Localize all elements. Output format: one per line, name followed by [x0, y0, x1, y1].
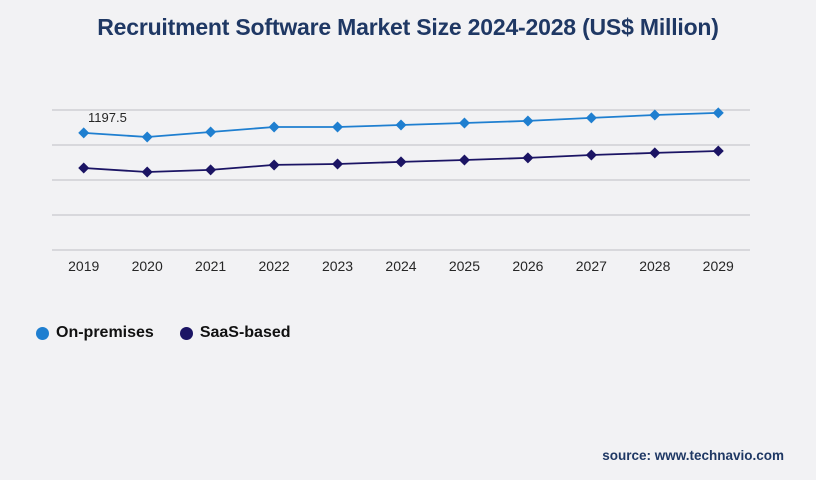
- legend-marker-icon: [36, 327, 49, 340]
- data-point-marker: [396, 156, 407, 167]
- x-tick-label: 2024: [369, 255, 432, 277]
- legend-item-label: On-premises: [56, 324, 154, 342]
- gridlines: [52, 110, 750, 250]
- data-point-marker: [459, 154, 470, 165]
- data-point-marker: [649, 147, 660, 158]
- data-point-marker: [713, 107, 724, 118]
- data-point-marker: [396, 119, 407, 130]
- data-point-marker: [522, 152, 533, 163]
- x-tick-label: 2023: [306, 255, 369, 277]
- line-chart-svg: [0, 0, 816, 480]
- data-point-marker: [459, 118, 470, 129]
- data-label-on-premises-2019: 1197.5: [88, 110, 127, 125]
- x-tick-label: 2025: [433, 255, 496, 277]
- data-point-marker: [269, 159, 280, 170]
- plot-area: 1197.5: [0, 0, 816, 480]
- data-point-marker: [713, 145, 724, 156]
- x-tick-label: 2021: [179, 255, 242, 277]
- data-point-marker: [205, 126, 216, 137]
- source-attribution: source: www.technavio.com: [602, 448, 784, 463]
- data-point-marker: [586, 149, 597, 160]
- x-axis: 2019 2020 2021 2022 2023 2024 2025 2026 …: [52, 255, 750, 277]
- x-tick-label: 2020: [115, 255, 178, 277]
- chart-page: Recruitment Software Market Size 2024-20…: [0, 0, 816, 480]
- x-tick-label: 2029: [687, 255, 750, 277]
- legend-item-saas-based[interactable]: SaaS-based: [180, 324, 291, 342]
- legend-item-label: SaaS-based: [200, 324, 291, 342]
- data-point-marker: [78, 162, 89, 173]
- series-markers: [78, 107, 724, 177]
- data-point-marker: [142, 131, 153, 142]
- x-tick-label: 2026: [496, 255, 559, 277]
- legend-marker-icon: [180, 327, 193, 340]
- data-point-marker: [649, 109, 660, 120]
- chart-legend: On-premises SaaS-based: [36, 324, 291, 342]
- x-tick-label: 2027: [560, 255, 623, 277]
- data-point-marker: [522, 115, 533, 126]
- data-point-marker: [269, 122, 280, 133]
- data-point-marker: [332, 122, 343, 133]
- x-tick-label: 2028: [623, 255, 686, 277]
- data-point-marker: [586, 112, 597, 123]
- x-tick-label: 2019: [52, 255, 115, 277]
- data-point-marker: [78, 127, 89, 138]
- legend-item-on-premises[interactable]: On-premises: [36, 324, 154, 342]
- data-point-marker: [205, 164, 216, 175]
- data-point-marker: [142, 166, 153, 177]
- data-point-marker: [332, 158, 343, 169]
- x-tick-label: 2022: [242, 255, 305, 277]
